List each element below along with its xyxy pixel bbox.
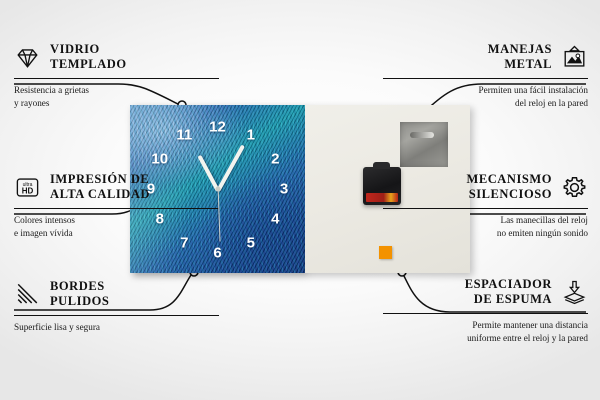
feature-description: Permite mantener una distancia uniforme …: [383, 319, 588, 344]
feature-description: Superficie lisa y segura: [14, 321, 219, 333]
divider: [383, 313, 588, 315]
feature-title: BORDES PULIDOS: [50, 279, 109, 310]
metal-hanger-plate: [400, 122, 448, 167]
polished-edges-icon: [14, 281, 41, 308]
clock-numeral-5: 5: [247, 235, 255, 250]
feature-vidrio-templado: VIDRIO TEMPLADO Resistencia a grietas y …: [14, 42, 219, 109]
feature-espaciador-espuma: ESPACIADOR DE ESPUMA Permite mantener un…: [383, 277, 588, 344]
hanging-frame-icon: [561, 44, 588, 71]
feature-mecanismo-silencioso: MECANISMO SILENCIOSO Las manecillas del …: [383, 172, 588, 239]
movement-hanging-tab: [373, 162, 390, 169]
feature-impresion-alta-calidad: ultra HD IMPRESIÓN DE ALTA CALIDAD Color…: [14, 172, 219, 239]
clock-center-pivot: [215, 187, 220, 192]
divider: [14, 78, 219, 80]
divider: [383, 208, 588, 210]
infographic-stage: 12 1 2 3 4 5 6 7 8 9 10 11: [0, 0, 600, 400]
clock-numeral-12: 12: [209, 119, 226, 134]
clock-numeral-1: 1: [247, 128, 255, 143]
feature-manejas-metal: MANEJAS METAL Permiten una fácil instala…: [383, 42, 588, 109]
feature-bordes-pulidos: BORDES PULIDOS Superficie lisa y segura: [14, 279, 219, 334]
clock-numeral-8: 8: [156, 212, 164, 227]
hanger-slot: [410, 132, 434, 138]
clock-numeral-11: 11: [176, 128, 192, 143]
clock-numeral-4: 4: [271, 212, 279, 227]
diamond-icon: [14, 44, 41, 71]
clock-numeral-6: 6: [213, 245, 221, 260]
ultra-hd-icon: ultra HD: [14, 174, 41, 201]
feature-description: Permiten una fácil instalación del reloj…: [383, 84, 588, 109]
feature-description: Las manecillas del reloj no emiten ningú…: [383, 214, 588, 239]
clock-minute-hand: [216, 145, 245, 192]
divider: [14, 208, 219, 210]
clock-numeral-7: 7: [180, 235, 188, 250]
clock-numeral-10: 10: [151, 151, 168, 166]
press-down-stack-icon: [561, 279, 588, 306]
divider: [383, 78, 588, 80]
feature-description: Resistencia a grietas y rayones: [14, 84, 219, 109]
gear-icon: [561, 174, 588, 201]
feature-title: VIDRIO TEMPLADO: [50, 42, 127, 73]
feature-title: MANEJAS METAL: [488, 42, 552, 73]
clock-numeral-9: 9: [147, 182, 155, 197]
orange-foam-spacer: [379, 246, 392, 259]
clock-numeral-3: 3: [280, 182, 288, 197]
clock-numeral-2: 2: [271, 151, 279, 166]
divider: [14, 315, 219, 317]
feature-title: MECANISMO SILENCIOSO: [466, 172, 552, 203]
svg-text:HD: HD: [22, 186, 34, 195]
feature-title: ESPACIADOR DE ESPUMA: [465, 277, 552, 308]
feature-title: IMPRESIÓN DE ALTA CALIDAD: [50, 172, 150, 203]
